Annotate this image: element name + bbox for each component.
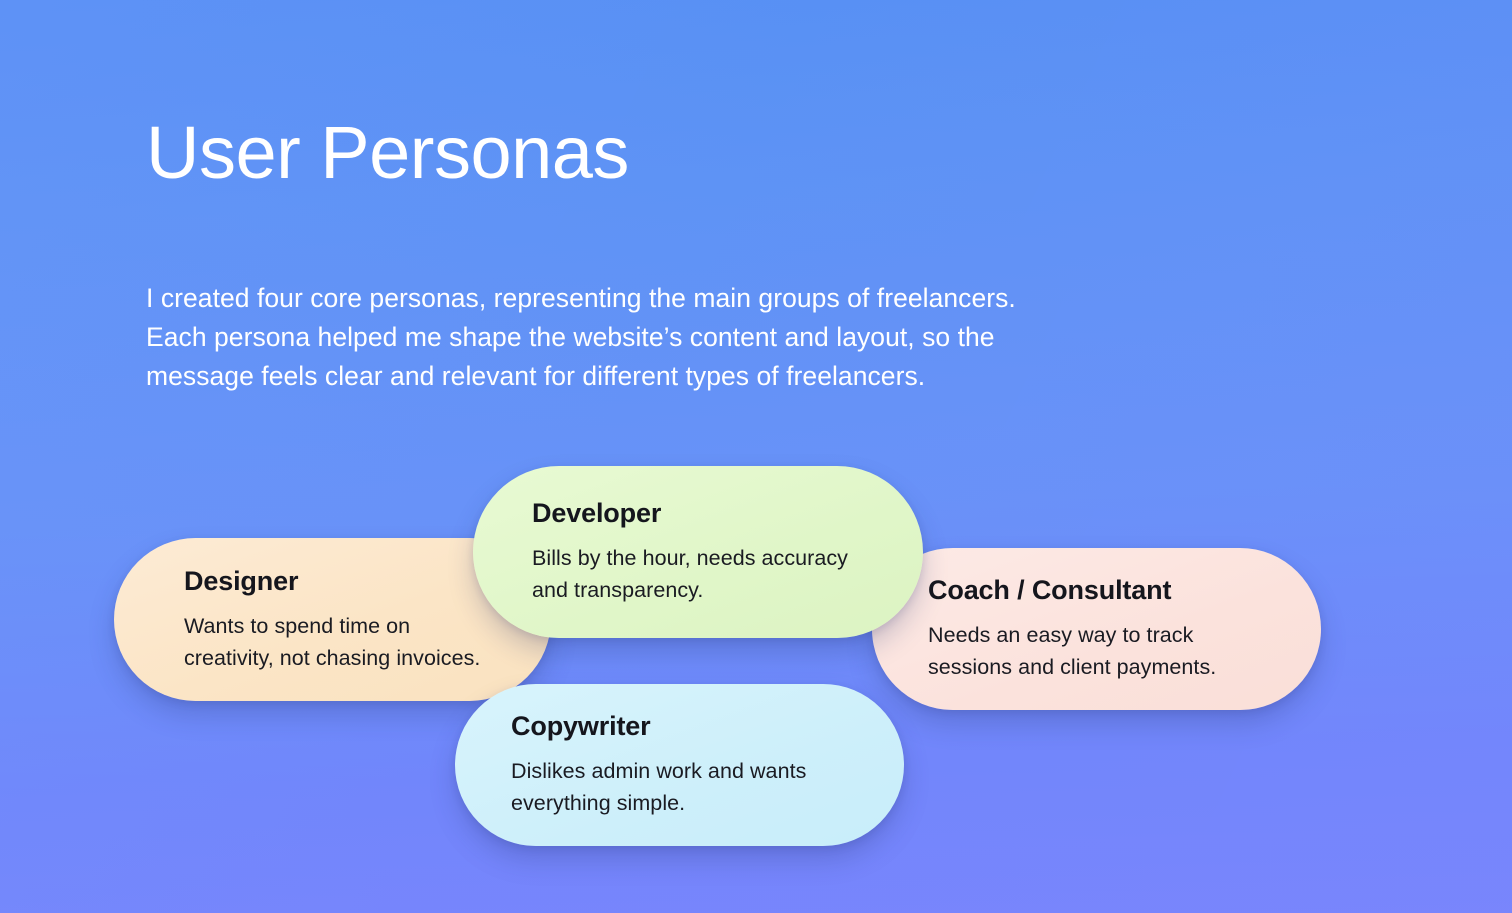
- persona-card-copywriter[interactable]: Copywriter Dislikes admin work and wants…: [455, 684, 904, 846]
- persona-description-coach-consultant: Needs an easy way to track sessions and …: [928, 619, 1281, 683]
- persona-description-developer: Bills by the hour, needs accuracy and tr…: [532, 542, 883, 606]
- persona-card-coach-consultant[interactable]: Coach / Consultant Needs an easy way to …: [872, 548, 1321, 710]
- persona-description-line: Bills by the hour, needs accuracy: [532, 542, 883, 574]
- persona-name-designer: Designer: [184, 566, 511, 597]
- persona-card-group: Designer Wants to spend time on creativi…: [0, 0, 1512, 913]
- persona-name-copywriter: Copywriter: [511, 711, 864, 742]
- persona-description-line: and transparency.: [532, 574, 883, 606]
- persona-description-copywriter: Dislikes admin work and wants everything…: [511, 755, 864, 819]
- persona-description-line: Dislikes admin work and wants: [511, 755, 864, 787]
- persona-name-coach-consultant: Coach / Consultant: [928, 575, 1281, 606]
- persona-name-developer: Developer: [532, 498, 883, 529]
- persona-description-line: sessions and client payments.: [928, 651, 1281, 683]
- persona-description-line: Wants to spend time on: [184, 610, 511, 642]
- persona-description-line: creativity, not chasing invoices.: [184, 642, 511, 674]
- persona-description-line: everything simple.: [511, 787, 864, 819]
- persona-description-line: Needs an easy way to track: [928, 619, 1281, 651]
- persona-card-developer[interactable]: Developer Bills by the hour, needs accur…: [473, 466, 923, 638]
- persona-description-designer: Wants to spend time on creativity, not c…: [184, 610, 511, 674]
